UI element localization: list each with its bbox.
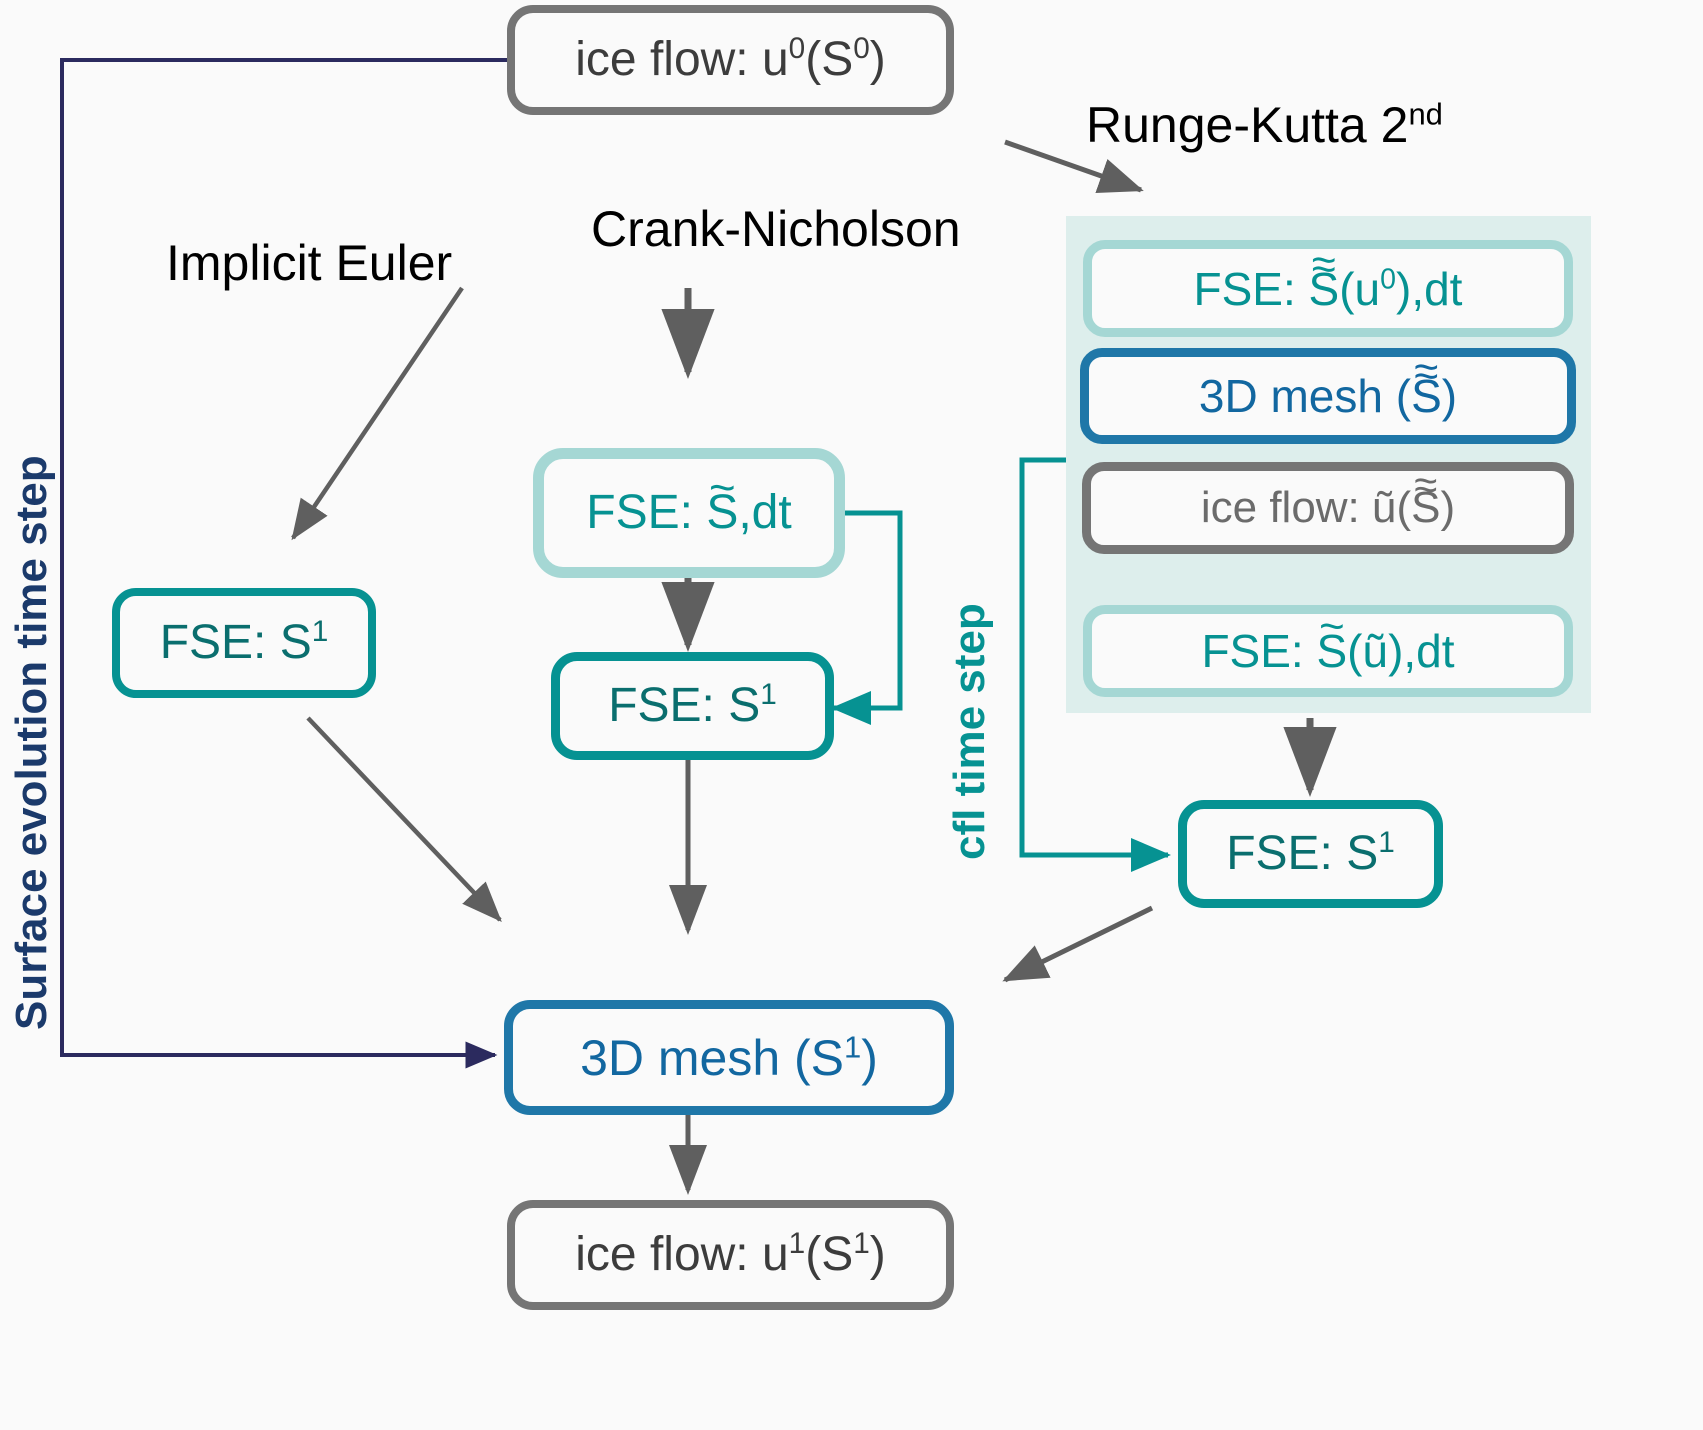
node-rk-ice-flow[interactable]: ice flow: ũ(≈S) [1082, 462, 1574, 554]
double-tilde-accent: ≈ [1411, 350, 1442, 394]
double-tilde-accent: ≈ [1411, 464, 1440, 506]
rk-to-mesh-arrow [1005, 908, 1152, 980]
node-bottom-ice-flow[interactable]: ice flow: u1(S1) [507, 1200, 954, 1310]
node-rk-fse-s1[interactable]: FSE: S1 [1178, 800, 1443, 908]
node-cn-fse-dt[interactable]: FSE: ~S,dt [533, 448, 845, 578]
implicit-to-mesh-arrow [308, 718, 500, 920]
caption-runge-kutta: Runge-Kutta 2nd [1086, 100, 1443, 150]
caption-implicit-euler: Implicit Euler [166, 238, 452, 288]
tilde-accent: ~ [1316, 605, 1347, 649]
caption-crank-nicholson: Crank-Nicholson [591, 204, 961, 254]
node-rk-fse-u0[interactable]: FSE: ≈S(u0),dt [1083, 240, 1573, 337]
node-top-ice-flow[interactable]: ice flow: u0(S0) [507, 5, 954, 115]
node-bottom-3d-mesh[interactable]: 3D mesh (S1) [504, 1000, 954, 1115]
node-implicit-euler-fse[interactable]: FSE: S1 [112, 588, 376, 698]
caption-surface-evolution-time-step: Surface evolution time step [10, 455, 54, 1030]
node-rk-3d-mesh[interactable]: 3D mesh (≈S) [1080, 348, 1576, 444]
node-cn-fse-s1[interactable]: FSE: S1 [551, 652, 834, 760]
node-rk-fse-ut[interactable]: FSE: ~S(ũ),dt [1083, 605, 1573, 697]
caption-cfl-time-step: cfl time step [948, 603, 992, 860]
surface-evolution-loop-arrow [62, 60, 507, 1055]
double-tilde-accent: ≈ [1309, 243, 1340, 287]
runge-kutta-ordinal: nd [1408, 96, 1442, 131]
tilde-accent: ~ [706, 465, 738, 511]
diagram-canvas: Implicit Euler Crank-Nicholson Runge-Kut… [0, 0, 1703, 1430]
implicit-euler-arrow [293, 288, 462, 538]
